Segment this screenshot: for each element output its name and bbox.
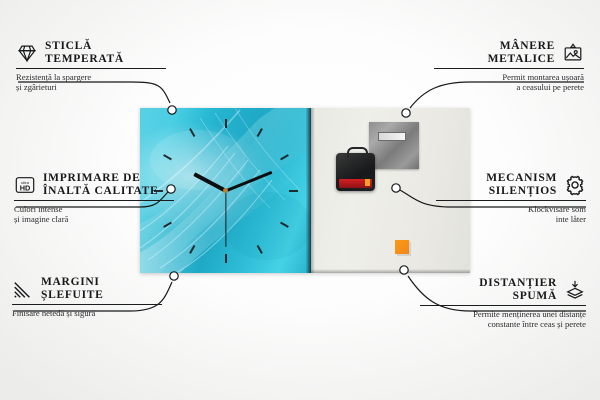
clock-tick xyxy=(225,119,227,128)
diamond-icon xyxy=(16,42,38,64)
callout-description: Permit montarea ușoară a ceasului pe per… xyxy=(434,72,584,92)
clock-tick xyxy=(256,128,262,137)
foam-spacer-pad xyxy=(395,240,409,254)
callout-title: MÂNERE METALICE xyxy=(488,40,555,65)
feature-callout-polished-edges[interactable]: MARGINI ȘLEFUITE Finisare netedă și sigu… xyxy=(12,276,162,318)
clock-hour-hand xyxy=(193,172,227,192)
battery-terminal xyxy=(365,179,370,186)
battery xyxy=(339,179,372,188)
callout-title: STICLĂ TEMPERATĂ xyxy=(45,40,124,65)
clock-tick xyxy=(225,254,227,263)
callout-title: IMPRIMARE DE ÎNALTĂ CALITATE xyxy=(43,172,158,197)
feature-callout-tempered-glass[interactable]: STICLĂ TEMPERATĂ Rezistență la spargere … xyxy=(16,40,166,92)
callout-title: DISTANȚIER SPUMĂ xyxy=(479,277,557,302)
callout-divider xyxy=(436,200,586,201)
beveled-edges-icon xyxy=(12,278,34,300)
feature-callout-foam-spacer[interactable]: DISTANȚIER SPUMĂ Permite menținerea unei… xyxy=(420,277,586,329)
svg-text:HD: HD xyxy=(20,183,31,192)
callout-description: Finisare netedă și sigură xyxy=(12,308,162,318)
hanger-slot xyxy=(378,132,406,141)
callout-header: MECANISM SILENȚIOS xyxy=(436,172,586,197)
metal-hanger-plate xyxy=(369,122,419,169)
callout-header: STICLĂ TEMPERATĂ xyxy=(16,40,166,65)
clock-mechanism xyxy=(336,153,375,191)
feature-callout-metal-hangers[interactable]: MÂNERE METALICE Permit montarea ușoară a… xyxy=(434,40,584,92)
clock-tick xyxy=(189,128,195,137)
product-image xyxy=(140,108,470,273)
callout-title: MARGINI ȘLEFUITE xyxy=(41,276,103,301)
callout-header: ultra HD IMPRIMARE DE ÎNALTĂ CALITATE xyxy=(14,172,174,197)
clock-minute-hand xyxy=(225,170,272,192)
clock-tick xyxy=(280,154,289,160)
infographic-stage: STICLĂ TEMPERATĂ Rezistență la spargere … xyxy=(0,0,600,400)
callout-divider xyxy=(12,304,162,305)
callout-header: MARGINI ȘLEFUITE xyxy=(12,276,162,301)
mechanism-hanging-loop xyxy=(347,147,368,158)
callout-description: Klockvisare som inte låter xyxy=(436,204,586,224)
clock-center-pin xyxy=(223,188,228,193)
gear-icon xyxy=(564,174,586,196)
picture-frame-hanger-icon xyxy=(562,42,584,64)
clock-tick xyxy=(289,190,298,192)
callout-description: Permite menținerea unei distanțe constan… xyxy=(420,309,586,329)
callout-header: MÂNERE METALICE xyxy=(434,40,584,65)
foam-spacer-icon xyxy=(564,279,586,301)
callout-divider xyxy=(16,68,166,69)
clock-second-hand xyxy=(225,191,226,247)
leader-endpoint-3 xyxy=(170,272,178,280)
feature-callout-silent-mechanism[interactable]: MECANISM SILENȚIOS Klockvisare som inte … xyxy=(436,172,586,224)
callout-divider xyxy=(434,68,584,69)
callout-divider xyxy=(14,200,174,201)
callout-divider xyxy=(420,305,586,306)
clock-tick xyxy=(256,245,262,254)
clock-tick xyxy=(189,245,195,254)
clock-tick xyxy=(163,154,172,160)
callout-description: Rezistență la spargere și zgârieturi xyxy=(16,72,166,92)
callout-title: MECANISM SILENȚIOS xyxy=(486,172,557,197)
callout-header: DISTANȚIER SPUMĂ xyxy=(420,277,586,302)
clock-tick xyxy=(280,221,289,227)
callout-description: Culori intense și imagine clară xyxy=(14,204,174,224)
ultra-hd-badge-icon: ultra HD xyxy=(14,174,36,196)
feature-callout-hd-print[interactable]: ultra HD IMPRIMARE DE ÎNALTĂ CALITATE Cu… xyxy=(14,172,174,224)
